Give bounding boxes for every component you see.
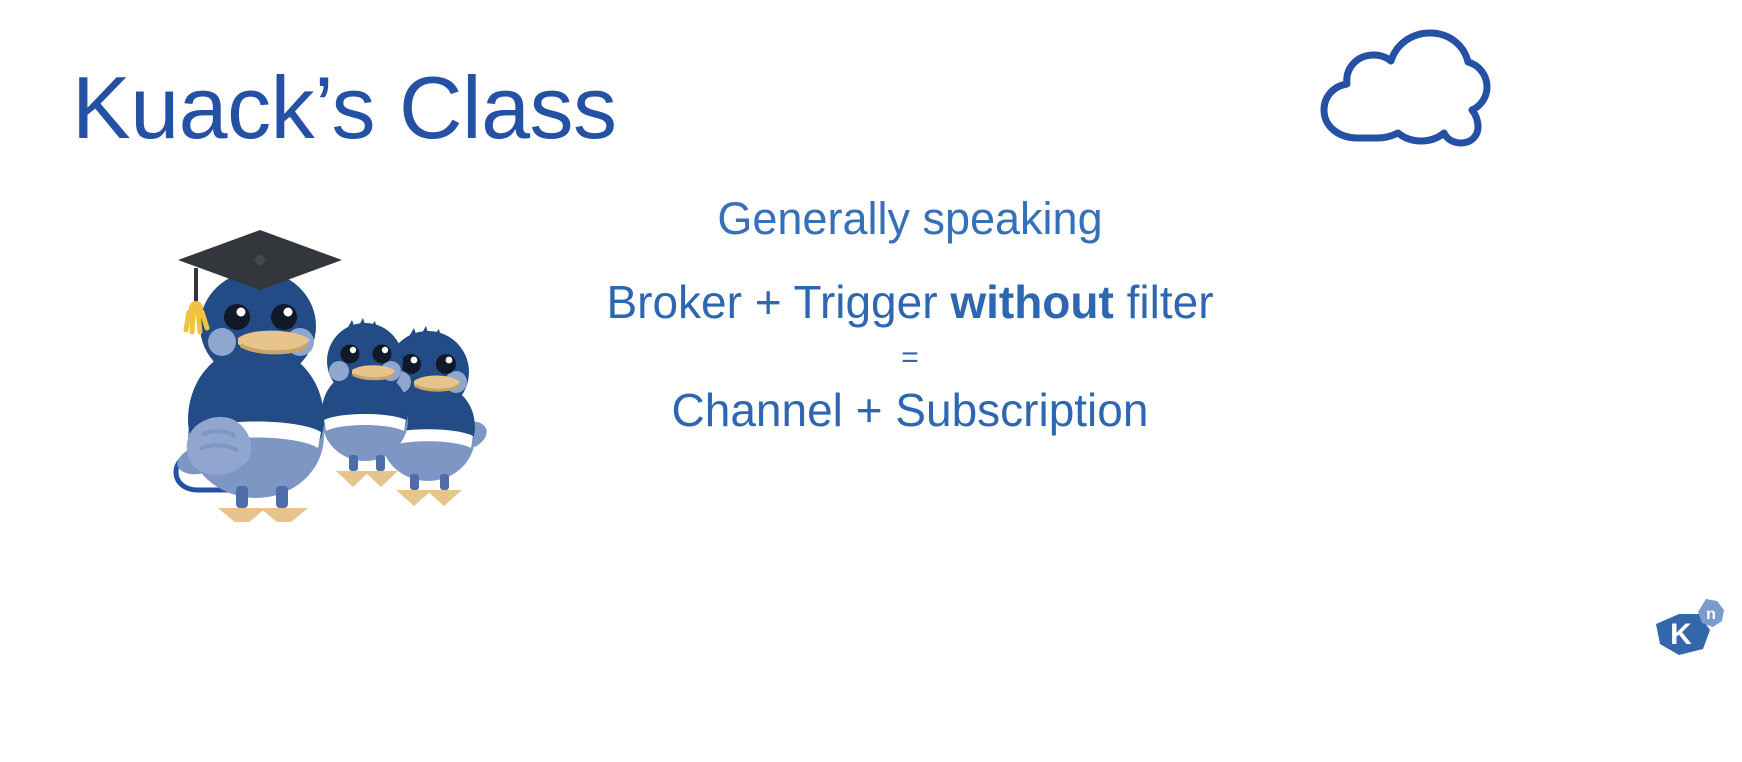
body-line-broker-trigger: Broker + Trigger without filter — [520, 279, 1300, 325]
cloud-outline-icon — [1306, 26, 1496, 148]
graduate-bird-mascot — [160, 222, 520, 522]
knative-logo-letter-k: K — [1670, 618, 1692, 651]
body-line-channel-subscription: Channel + Subscription — [520, 387, 1300, 433]
slide-canvas: Kuack’s Class — [0, 0, 1742, 762]
knative-logo-letter-n: n — [1706, 606, 1716, 623]
broker-line-emphasis: without — [950, 276, 1114, 328]
body-line-equals-sign: = — [520, 343, 1300, 373]
page-title: Kuack’s Class — [72, 62, 617, 154]
body-line-generally-speaking: Generally speaking — [520, 196, 1300, 241]
body-text-block: Generally speaking Broker + Trigger with… — [520, 196, 1300, 433]
knative-logo: K n — [1648, 592, 1726, 670]
broker-line-suffix: filter — [1114, 276, 1214, 328]
broker-line-prefix: Broker + Trigger — [606, 276, 950, 328]
